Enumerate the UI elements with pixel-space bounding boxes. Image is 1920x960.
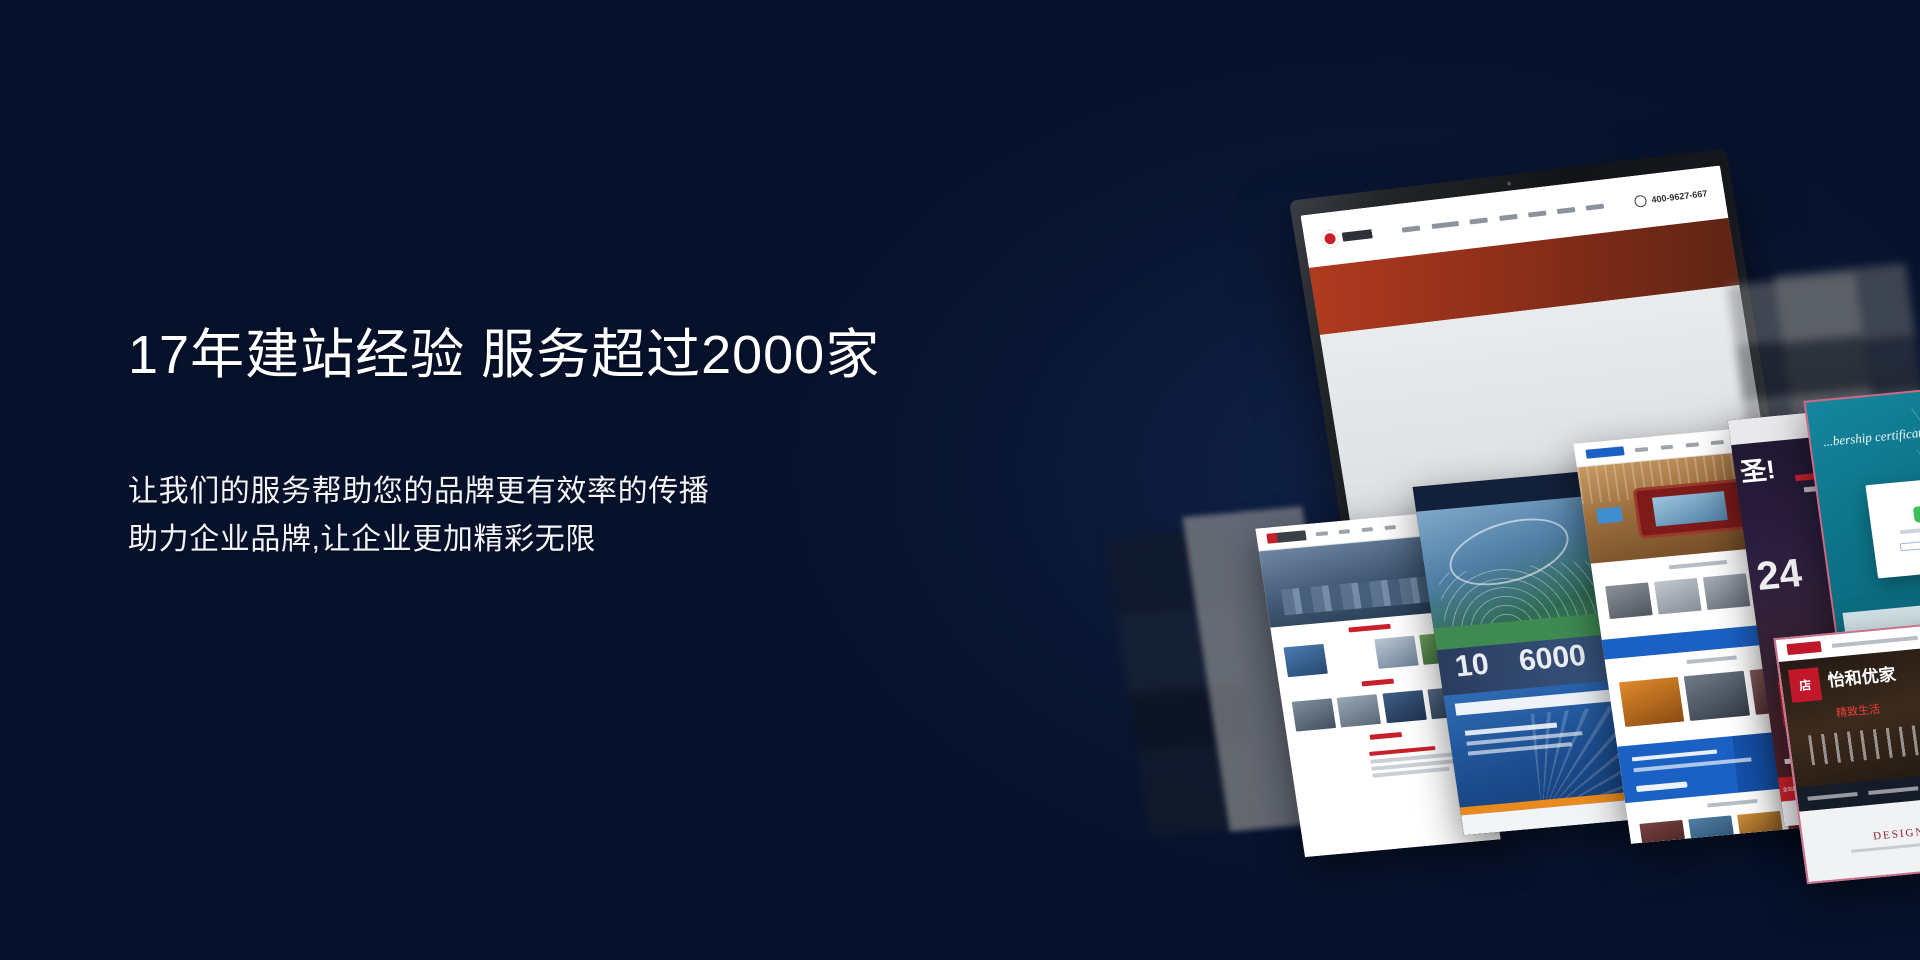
panel-title: ...bership certification (1822, 424, 1920, 451)
hero-subtitle: 让我们的服务帮助您的品牌更有效率的传播 助力企业品牌,让企业更加精彩无限 (128, 468, 1108, 565)
stat-value: 6000 (1517, 641, 1588, 677)
panel-slogan: 精致生活 (1835, 701, 1881, 721)
cancel-button[interactable] (1900, 541, 1920, 551)
nav-item[interactable] (1586, 203, 1605, 210)
stat-value: 10 (1453, 650, 1491, 683)
page-title: 17年建站经验 服务超过2000家 (128, 324, 1108, 388)
device-showcase: 400-9627-667 (1150, 180, 1920, 800)
nav-item[interactable] (1557, 207, 1576, 214)
site-logo (1786, 641, 1822, 655)
phone-icon (1634, 195, 1648, 208)
site-logo (1320, 220, 1389, 252)
nav-item[interactable] (1499, 214, 1518, 221)
site-phone: 400-9627-667 (1634, 188, 1709, 209)
hero-banner: 17年建站经验 服务超过2000家 让我们的服务帮助您的品牌更有效率的传播 助力… (0, 0, 1920, 960)
subtitle-line-2: 助力企业品牌,让企业更加精彩无限 (128, 516, 1108, 565)
nav-item[interactable] (1528, 210, 1547, 217)
logo-text (1342, 227, 1388, 241)
panel-footer-brand: DESIGN (1872, 825, 1920, 842)
panel-brand: 怡和优家 (1826, 660, 1897, 691)
nav-item[interactable] (1402, 225, 1421, 232)
nav-item[interactable] (1470, 217, 1489, 224)
phone-number: 400-9627-667 (1651, 189, 1708, 206)
nav-item[interactable] (1431, 221, 1459, 229)
check-badge-icon (1913, 505, 1920, 522)
badge-number: 24 (1754, 553, 1804, 597)
subtitle-line-1: 让我们的服务帮助您的品牌更有效率的传播 (128, 468, 1108, 517)
logo-mark-icon (1320, 229, 1340, 248)
list-item[interactable]: 店 怡和优家 精致生活 DESIGN (1774, 620, 1920, 884)
hero-copy-block: 17年建站经验 服务超过2000家 让我们的服务帮助您的品牌更有效率的传播 助力… (128, 324, 1108, 565)
